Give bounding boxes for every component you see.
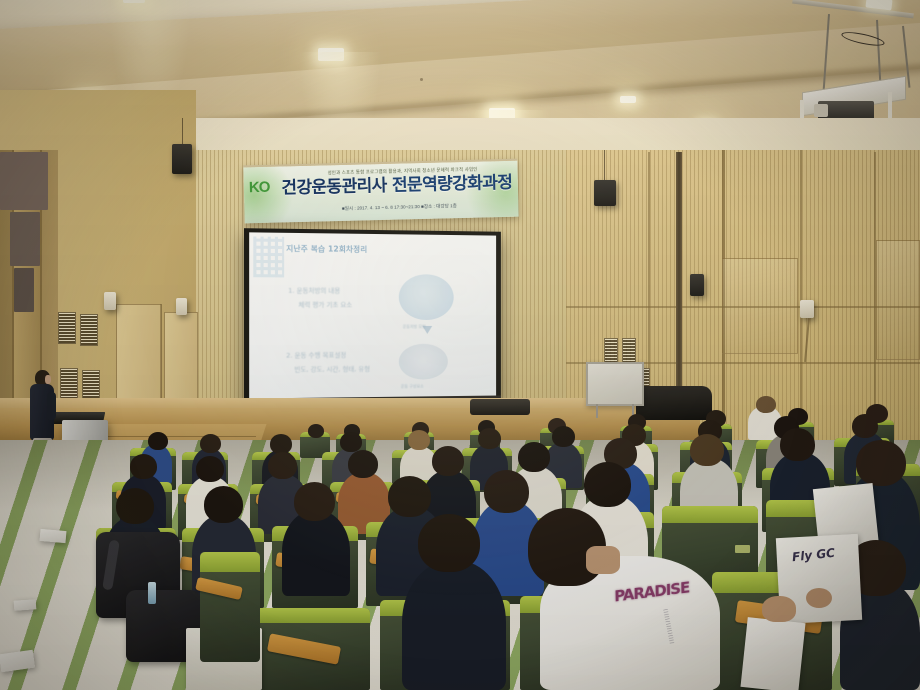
attendee-body — [282, 510, 350, 596]
lecture-hall-photo: KO 성인과 스포츠 통합 프로그램의 활용과, 지역사회 청소년 문해력 파크… — [0, 0, 920, 690]
attendee-head — [478, 428, 501, 449]
projection-screen: 지난주 복습 12회차정리 1. 운동처방의 내용 체력 평가 기초 요소 2.… — [244, 228, 501, 410]
speaker-hang-wire — [182, 118, 183, 146]
organization-logo: KO — [249, 179, 275, 198]
acoustic-panel — [0, 152, 48, 210]
attendee-head — [116, 488, 154, 524]
presenter-arm — [47, 392, 56, 420]
attendee-hand — [806, 588, 832, 608]
wall-vent — [622, 338, 636, 364]
wall-speaker-mid — [176, 298, 187, 315]
stage-equipment — [470, 399, 530, 415]
attendee-head — [388, 476, 431, 517]
slide-decoration-icon — [253, 236, 284, 277]
attendee-hand — [762, 596, 796, 622]
attendee-head — [294, 482, 335, 521]
attendee-head — [204, 486, 243, 523]
speaker-hang-wire — [604, 150, 605, 182]
attendee-head — [756, 396, 776, 413]
projection-screen-surface: 지난주 복습 12회차정리 1. 운동처방의 내용 체력 평가 기초 요소 2.… — [249, 232, 496, 398]
ceiling-downlight — [318, 48, 344, 61]
presenter-face — [45, 375, 51, 384]
floor-handout — [40, 529, 67, 543]
attendee-head — [852, 414, 878, 438]
ceiling-downlight — [620, 96, 636, 103]
acoustic-panel — [10, 212, 40, 266]
attendee-head — [584, 462, 631, 507]
banner-title-main: 건강운동관리사 — [281, 176, 387, 199]
wall-speaker-left — [104, 292, 116, 310]
water-bottle — [148, 582, 156, 604]
wall-panel-inset — [876, 240, 920, 360]
stage-piano — [636, 386, 712, 420]
attendee-head — [308, 424, 324, 438]
slide-diagram-circle-bottom — [399, 344, 448, 380]
attendee-head — [348, 450, 378, 478]
attendee-head — [552, 426, 575, 447]
attendee-neck — [586, 546, 620, 574]
wall-vent — [80, 314, 98, 346]
slide-bullet: 2. 운동 수행 목표설정 — [286, 350, 346, 360]
attendee-head — [432, 446, 464, 476]
attendee-head — [148, 432, 168, 450]
banner-title-accent: 전문역량강화과정 — [392, 173, 513, 196]
hanging-speaker-right — [594, 180, 616, 206]
wall-mounted-device — [800, 300, 814, 318]
ceiling-downlight — [123, 0, 145, 3]
slide-title: 지난주 복습 12회차정리 — [286, 244, 367, 255]
slide-diagram-caption-top: 운동처방 모형 — [403, 322, 426, 332]
wall-panel-joint — [566, 306, 920, 308]
wall-vent — [60, 368, 78, 402]
event-banner: KO 성인과 스포츠 통합 프로그램의 활용과, 지역사회 청소년 문해력 파크… — [243, 159, 518, 224]
floor-handout — [14, 599, 37, 611]
attendee-head — [780, 428, 815, 461]
projector-lens-icon — [814, 104, 828, 117]
seat[interactable] — [200, 552, 260, 662]
seat-number-plate — [735, 545, 750, 553]
hanging-speaker-left — [172, 144, 192, 174]
slide-bullet: 빈도, 강도, 시간, 형태, 유형 — [294, 364, 370, 375]
slide-diagram-caption-bottom: 운동 구성요소 — [401, 382, 424, 392]
projector-rail — [792, 0, 914, 18]
attendee-head — [200, 434, 221, 453]
attendee-head — [268, 452, 297, 479]
attendee-head — [196, 456, 224, 482]
wall-vent — [604, 338, 618, 364]
attendee-body — [402, 560, 506, 690]
slide-bullet: 1. 운동처방의 내용 — [288, 286, 340, 296]
handout-paper[interactable] — [741, 617, 806, 690]
attendee-head — [270, 434, 292, 454]
projector-cable-loop — [840, 29, 885, 48]
wall-speaker-right — [690, 274, 704, 296]
attendee-head — [340, 432, 362, 452]
slide-diagram-circle-top — [399, 274, 454, 320]
attendee-head — [484, 470, 529, 513]
attendee-head — [856, 440, 906, 486]
attendee-head — [690, 434, 724, 466]
attendee-head — [408, 430, 430, 450]
acoustic-panel — [14, 268, 34, 312]
projector-cable — [823, 14, 830, 90]
attendee-head — [518, 442, 550, 472]
whiteboard[interactable] — [586, 362, 644, 406]
slide-bullet: 체력 평가 기초 요소 — [298, 300, 352, 310]
wall-column — [676, 152, 682, 422]
attendee-head — [130, 454, 157, 479]
wall-vent — [58, 312, 76, 344]
attendee-head — [418, 514, 480, 572]
whiteboard-stand — [596, 404, 634, 418]
ceiling-fixture-dot — [420, 78, 423, 81]
